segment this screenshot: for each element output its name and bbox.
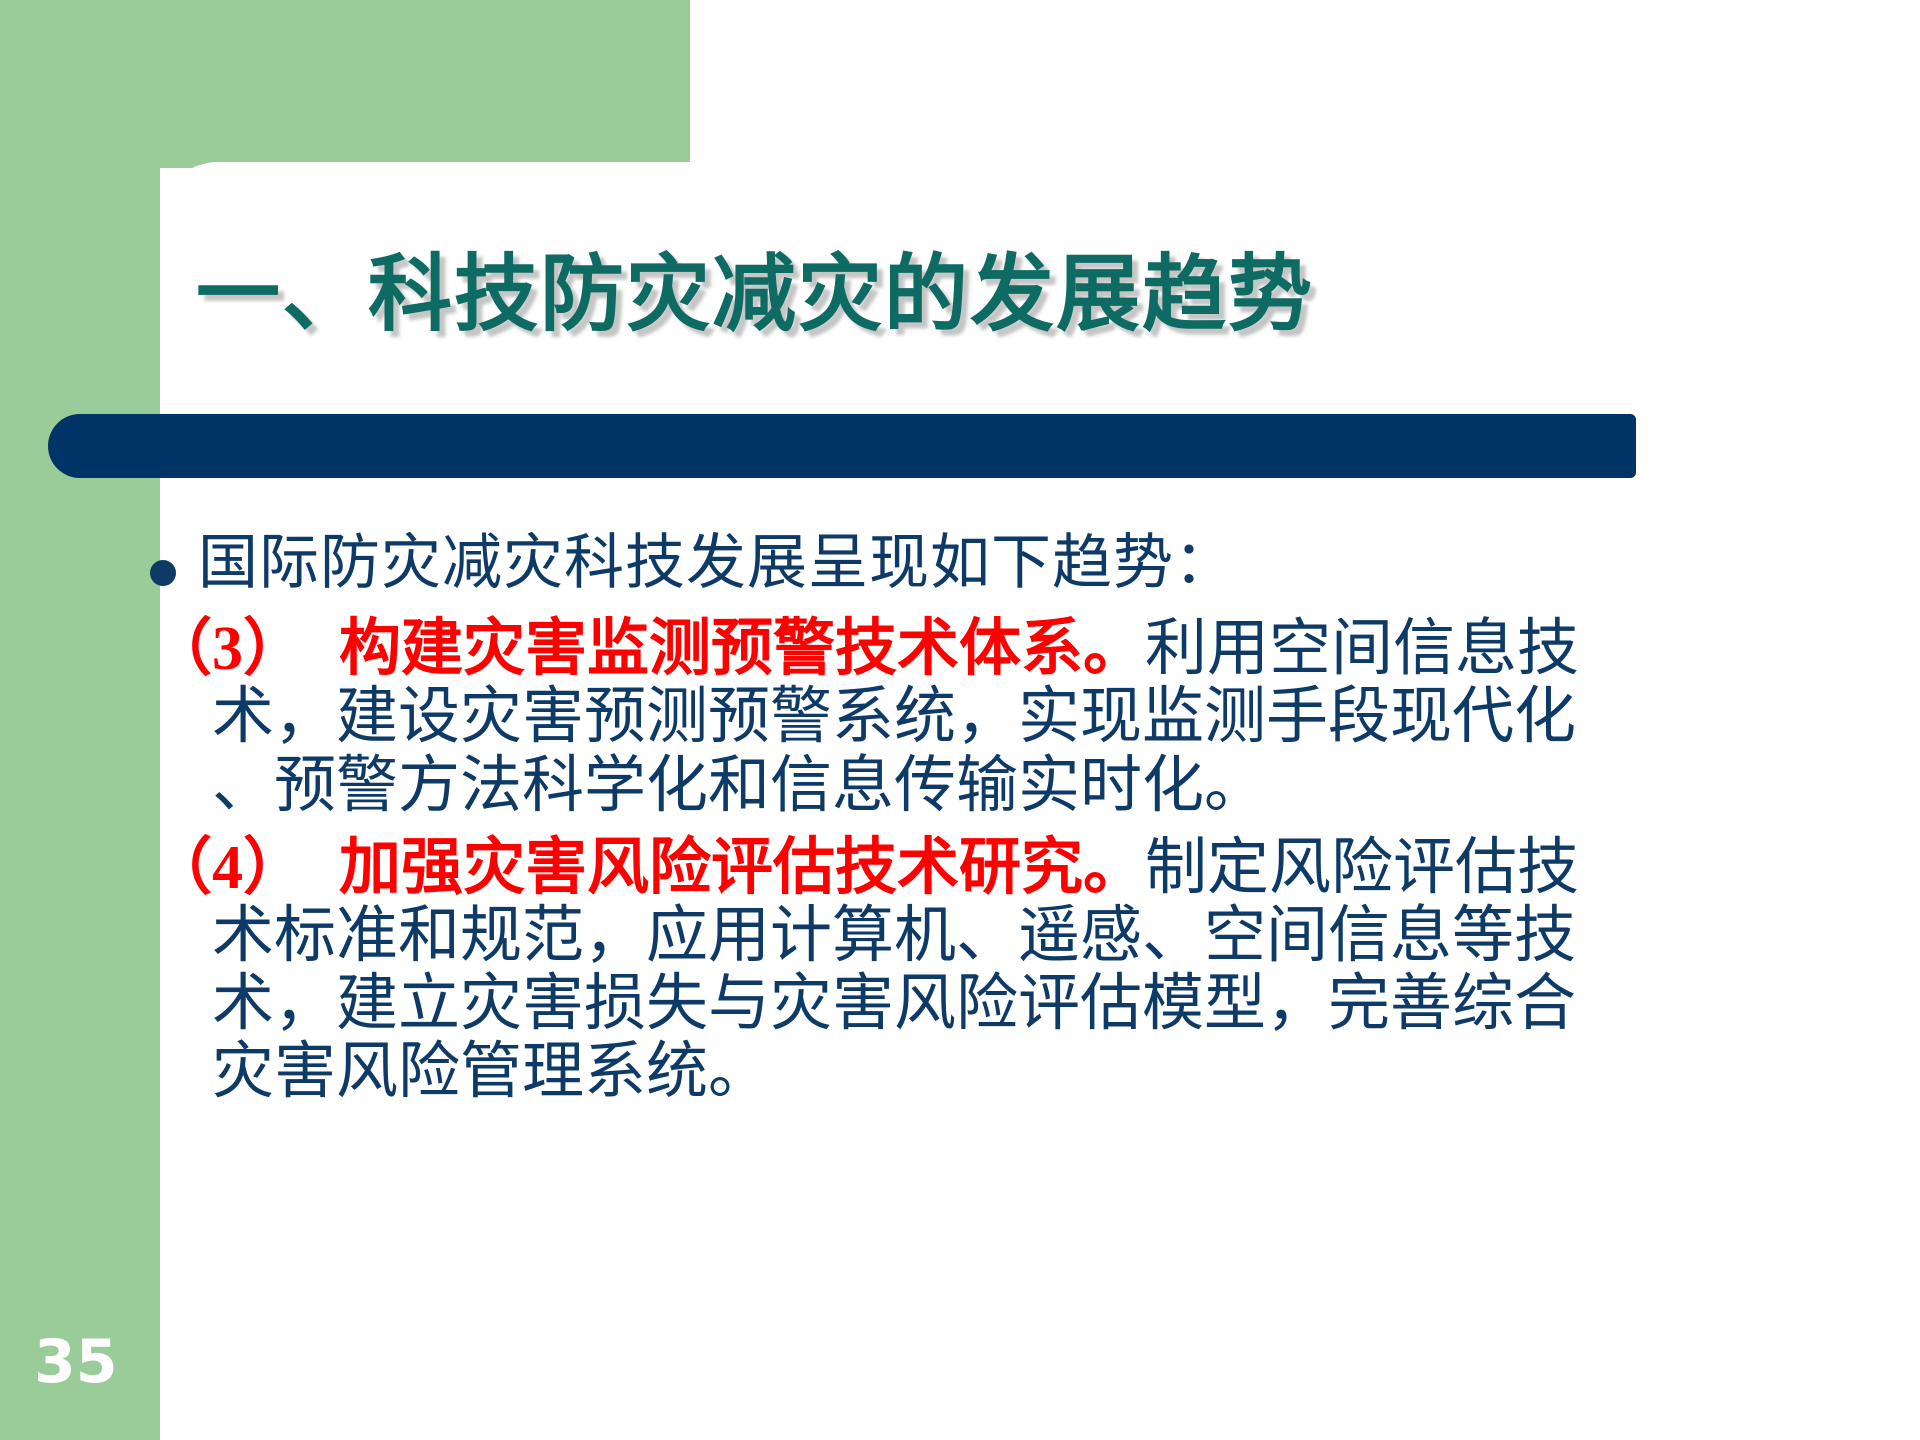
paragraph-4-text-1: 制定风险评估技 <box>1145 834 1579 902</box>
paragraph-4-lead: 加强灾害风险评估技术研究。 <box>339 834 1145 902</box>
paragraph-3-line-1: （3）构建灾害监测预警技术体系。利用空间信息技 <box>150 615 1920 683</box>
paragraph-3-number: （3） <box>150 615 305 683</box>
paragraph-3-line-3: 、预警方法科学化和信息传输实时化。 <box>150 752 1920 820</box>
bullet-item-label: 国际防灾减灾科技发展呈现如下趋势： <box>198 530 1235 597</box>
paragraph-4: （4）加强灾害风险评估技术研究。制定风险评估技 术标准和规范，应用计算机、遥感、… <box>150 834 1920 1107</box>
page-title: 一、科技防灾减灾的发展趋势 <box>196 252 1696 336</box>
presentation-slide: 一、科技防灾减灾的发展趋势 国际防灾减灾科技发展呈现如下趋势： （3）构建灾害监… <box>0 0 1920 1440</box>
paragraph-4-text-3: 术，建立灾害损失与灾害风险评估模型，完善综合 <box>212 970 1576 1038</box>
left-green-band <box>0 0 160 1440</box>
slide-body: 国际防灾减灾科技发展呈现如下趋势： （3）构建灾害监测预警技术体系。利用空间信息… <box>150 530 1920 1107</box>
paragraph-3: （3）构建灾害监测预警技术体系。利用空间信息技 术，建设灾害预测预警系统，实现监… <box>150 615 1920 820</box>
paragraph-3-text-2: 术，建设灾害预测预警系统，实现监测手段现代化 <box>212 683 1576 751</box>
title-underline-bar <box>48 414 1636 478</box>
list-item: 国际防灾减灾科技发展呈现如下趋势： <box>150 530 1920 597</box>
paragraph-4-line-3: 术，建立灾害损失与灾害风险评估模型，完善综合 <box>150 970 1920 1038</box>
paragraph-4-text-4: 灾害风险管理系统。 <box>212 1038 770 1106</box>
paragraph-4-number: （4） <box>150 834 305 902</box>
paragraph-3-text-1: 利用空间信息技 <box>1145 615 1579 683</box>
paragraph-4-line-1: （4）加强灾害风险评估技术研究。制定风险评估技 <box>150 834 1920 902</box>
paragraph-4-line-2: 术标准和规范，应用计算机、遥感、空间信息等技 <box>150 902 1920 970</box>
page-number: 35 <box>34 1332 154 1392</box>
paragraph-4-text-2: 术标准和规范，应用计算机、遥感、空间信息等技 <box>212 902 1576 970</box>
paragraph-4-line-4: 灾害风险管理系统。 <box>150 1038 1920 1106</box>
bullet-dot-icon <box>150 560 176 586</box>
paragraph-3-line-2: 术，建设灾害预测预警系统，实现监测手段现代化 <box>150 683 1920 751</box>
paragraph-3-lead: 构建灾害监测预警技术体系。 <box>339 615 1145 683</box>
top-green-block <box>160 0 690 168</box>
paragraph-3-text-3: 、预警方法科学化和信息传输实时化。 <box>212 752 1266 820</box>
